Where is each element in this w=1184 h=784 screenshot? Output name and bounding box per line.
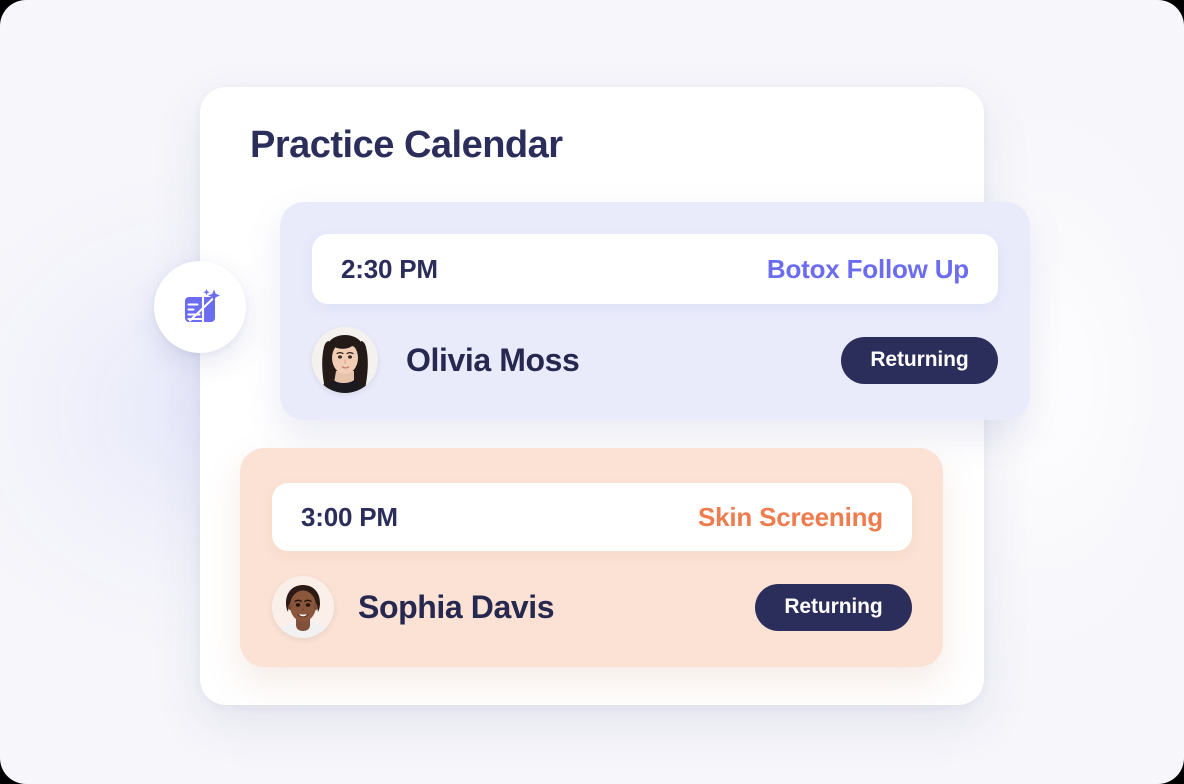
app-root: Practice Calendar 2:30 PM Botox Follow U…: [0, 0, 1184, 784]
patient-row: Sophia Davis Returning: [272, 572, 912, 642]
appointment-time-row: 3:00 PM Skin Screening: [272, 483, 912, 551]
appointment-time: 3:00 PM: [301, 502, 398, 533]
patient-name: Sophia Davis: [358, 589, 554, 626]
ai-assistant-badge[interactable]: [154, 261, 246, 353]
appointment-time: 2:30 PM: [341, 254, 438, 285]
avatar: [272, 576, 334, 638]
appointment-card[interactable]: 3:00 PM Skin Screening: [240, 448, 943, 667]
status-badge[interactable]: Returning: [755, 584, 912, 631]
patient-row: Olivia Moss Returning: [312, 324, 998, 396]
appointment-service: Botox Follow Up: [767, 254, 969, 285]
status-badge[interactable]: Returning: [841, 337, 998, 384]
page-title: Practice Calendar: [250, 124, 563, 167]
avatar: [312, 327, 378, 393]
patient-name: Olivia Moss: [406, 342, 579, 379]
appointment-service: Skin Screening: [698, 502, 883, 533]
appointment-time-row: 2:30 PM Botox Follow Up: [312, 234, 998, 304]
ai-sparkle-table-icon: [177, 284, 223, 330]
appointment-card[interactable]: 2:30 PM Botox Follow Up: [280, 202, 1030, 420]
